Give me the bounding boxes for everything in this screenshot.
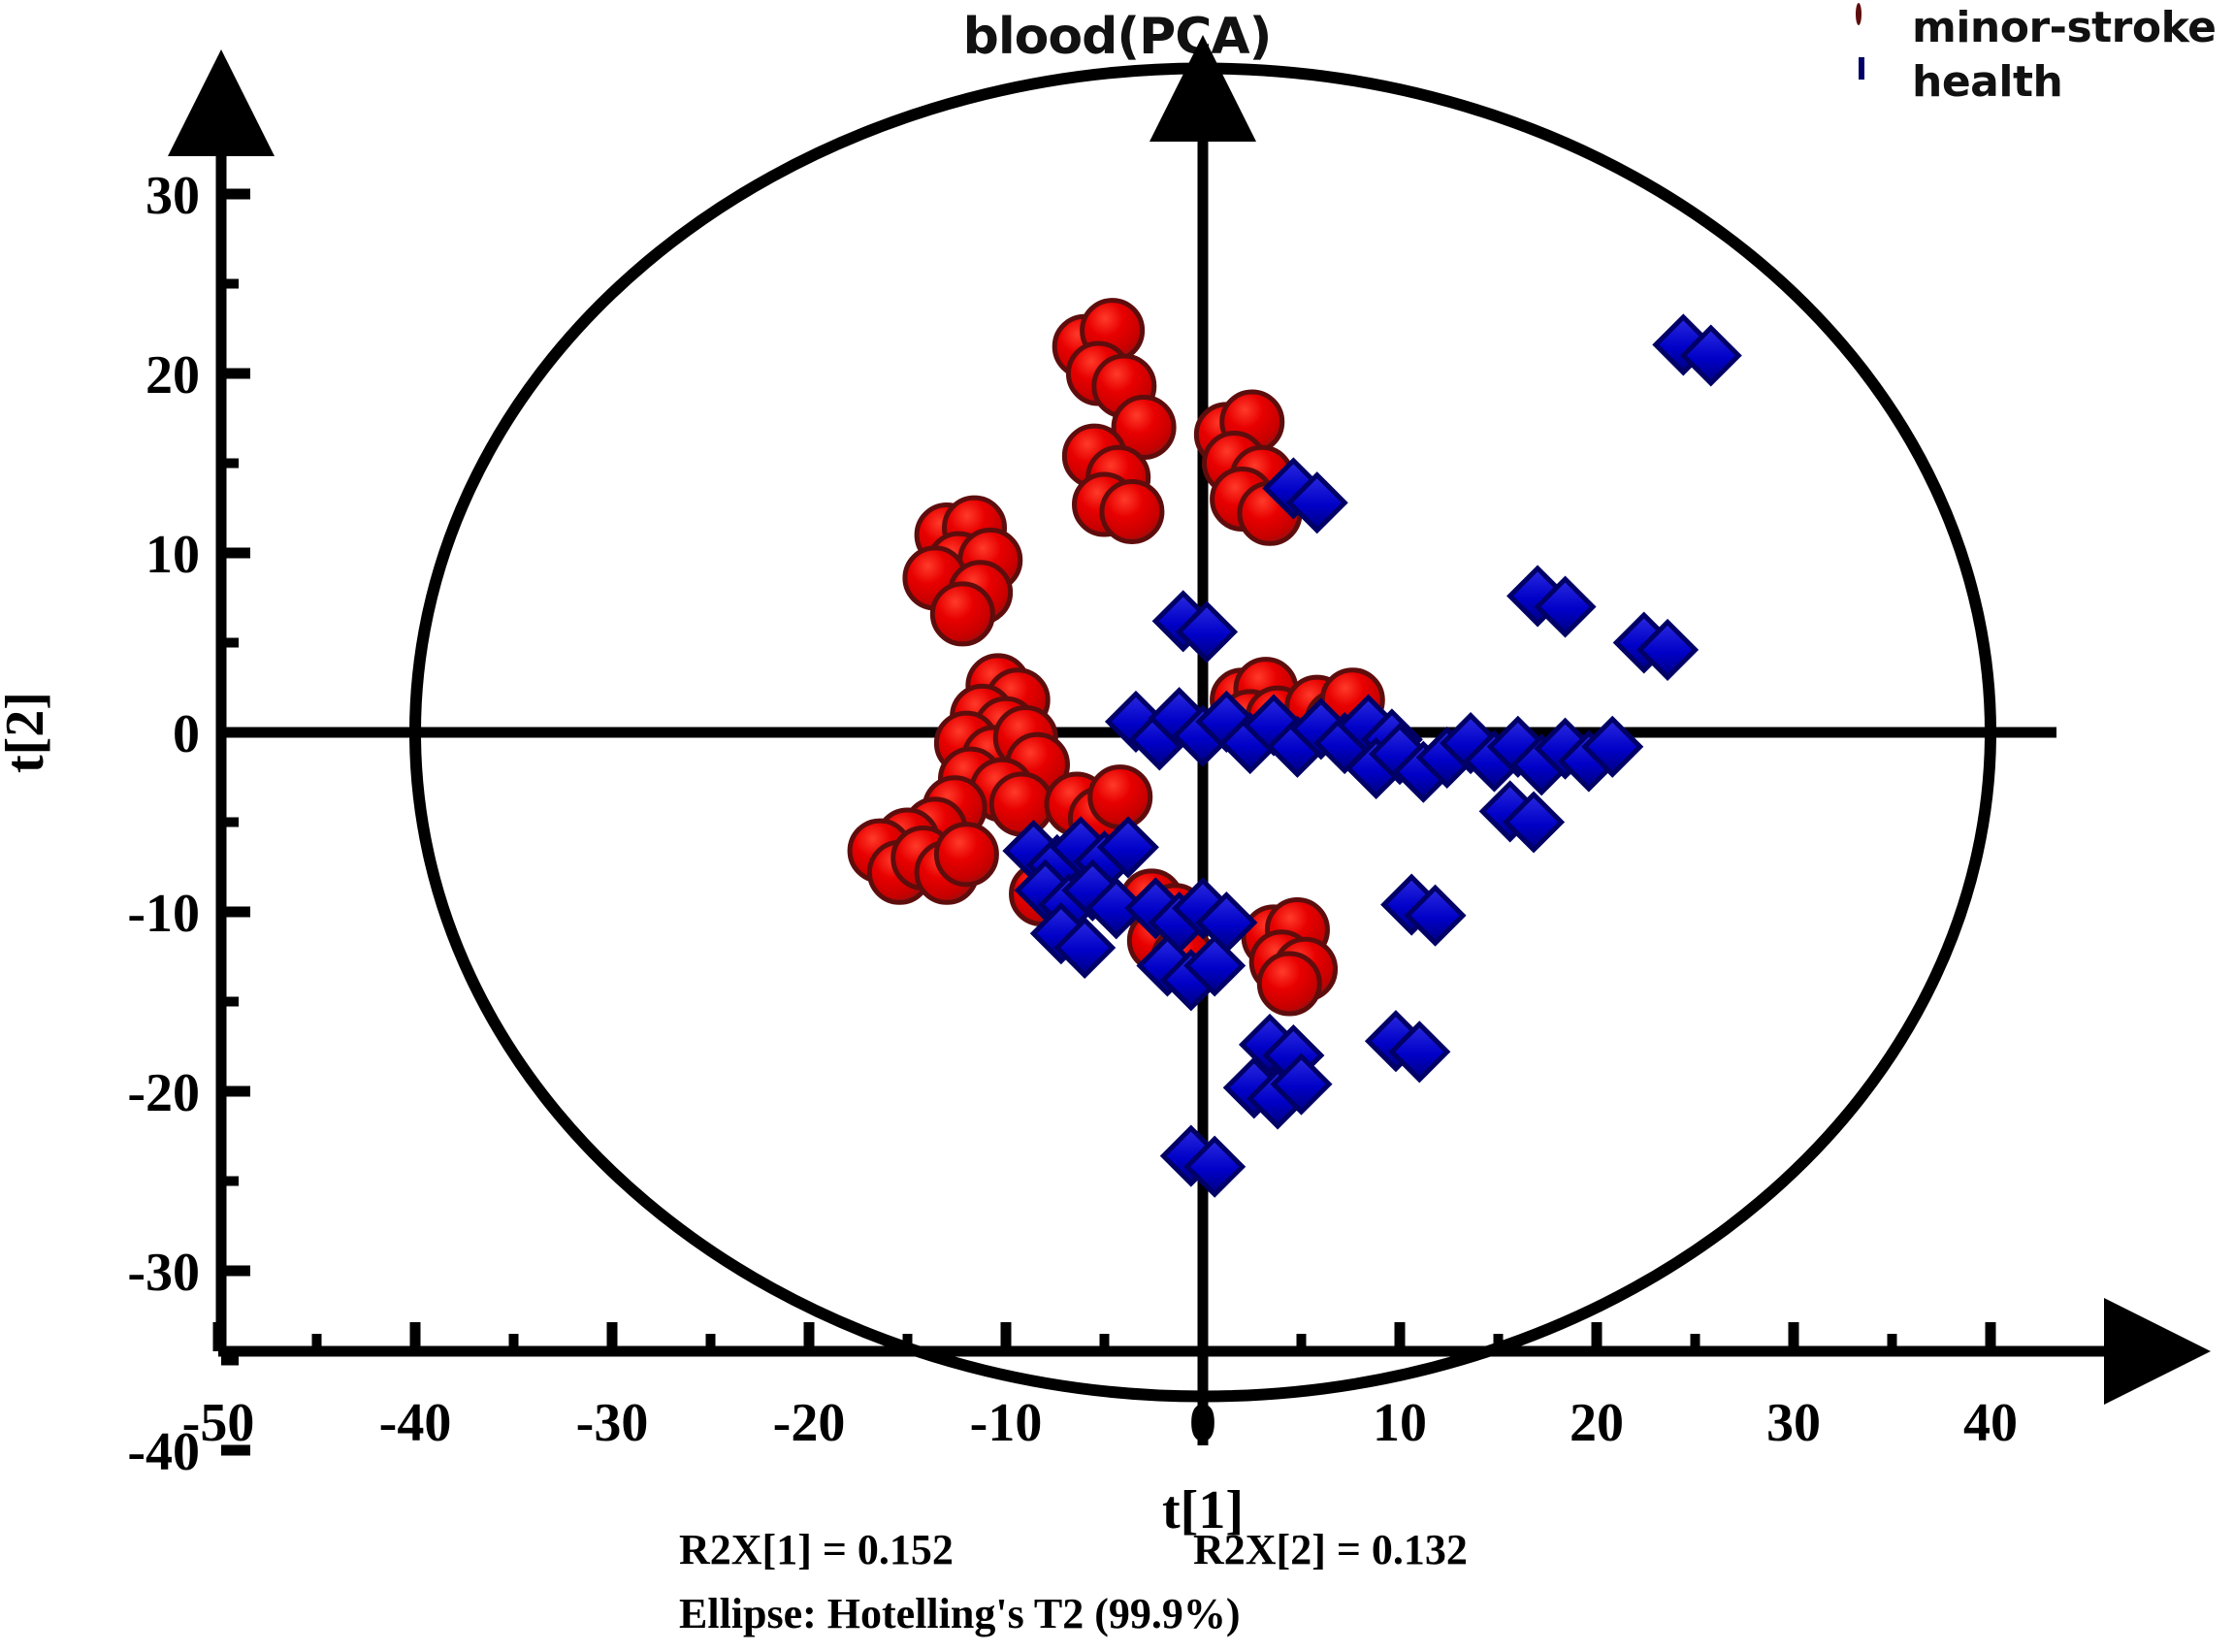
- data-point-minor-stroke[interactable]: [936, 825, 996, 885]
- y-tick-label: -30: [127, 1243, 200, 1303]
- x-tick-label: 40: [1963, 1393, 2018, 1453]
- y-tick-label: 20: [146, 345, 200, 405]
- y-tick-label: 0: [173, 704, 200, 764]
- y-tick-label: -20: [127, 1063, 200, 1123]
- x-tick-label: 10: [1373, 1393, 1427, 1453]
- footer-annotations: R2X[1] = 0.152R2X[2] = 0.132Ellipse: Hot…: [679, 1526, 1468, 1637]
- x-tick-label: 20: [1570, 1393, 1624, 1453]
- ellipse-annotation: Ellipse: Hotelling's T2 (99.9%): [679, 1590, 1241, 1637]
- plot-canvas: -50-40-30-20-10010203040-40-30-20-100102…: [0, 0, 2234, 1652]
- y-tick-label: 10: [146, 525, 200, 585]
- x-tick-label: -20: [773, 1393, 846, 1453]
- x-tick-label: 0: [1189, 1393, 1216, 1453]
- x-tick-label: 30: [1766, 1393, 1821, 1453]
- x-tick-label: -30: [576, 1393, 649, 1453]
- data-point-minor-stroke[interactable]: [932, 584, 992, 644]
- y-axis-label: t[2]: [0, 692, 55, 773]
- r2x2-annotation: R2X[2] = 0.132: [1193, 1526, 1468, 1573]
- data-point-minor-stroke[interactable]: [1259, 954, 1319, 1014]
- r2x1-annotation: R2X[1] = 0.152: [679, 1526, 954, 1573]
- data-point-minor-stroke[interactable]: [1102, 481, 1162, 541]
- x-tick-label: -40: [379, 1393, 452, 1453]
- pca-scatter-figure: blood(PCA) minor-stroke health: [0, 0, 2234, 1652]
- data-point-minor-stroke[interactable]: [1090, 767, 1150, 827]
- y-tick-label: 30: [146, 166, 200, 226]
- y-tick-label: -40: [127, 1422, 200, 1482]
- x-tick-label: -10: [970, 1393, 1043, 1453]
- data-points-layer: [850, 301, 1738, 1195]
- y-tick-label: -10: [127, 884, 200, 944]
- data-point-minor-stroke[interactable]: [991, 774, 1052, 834]
